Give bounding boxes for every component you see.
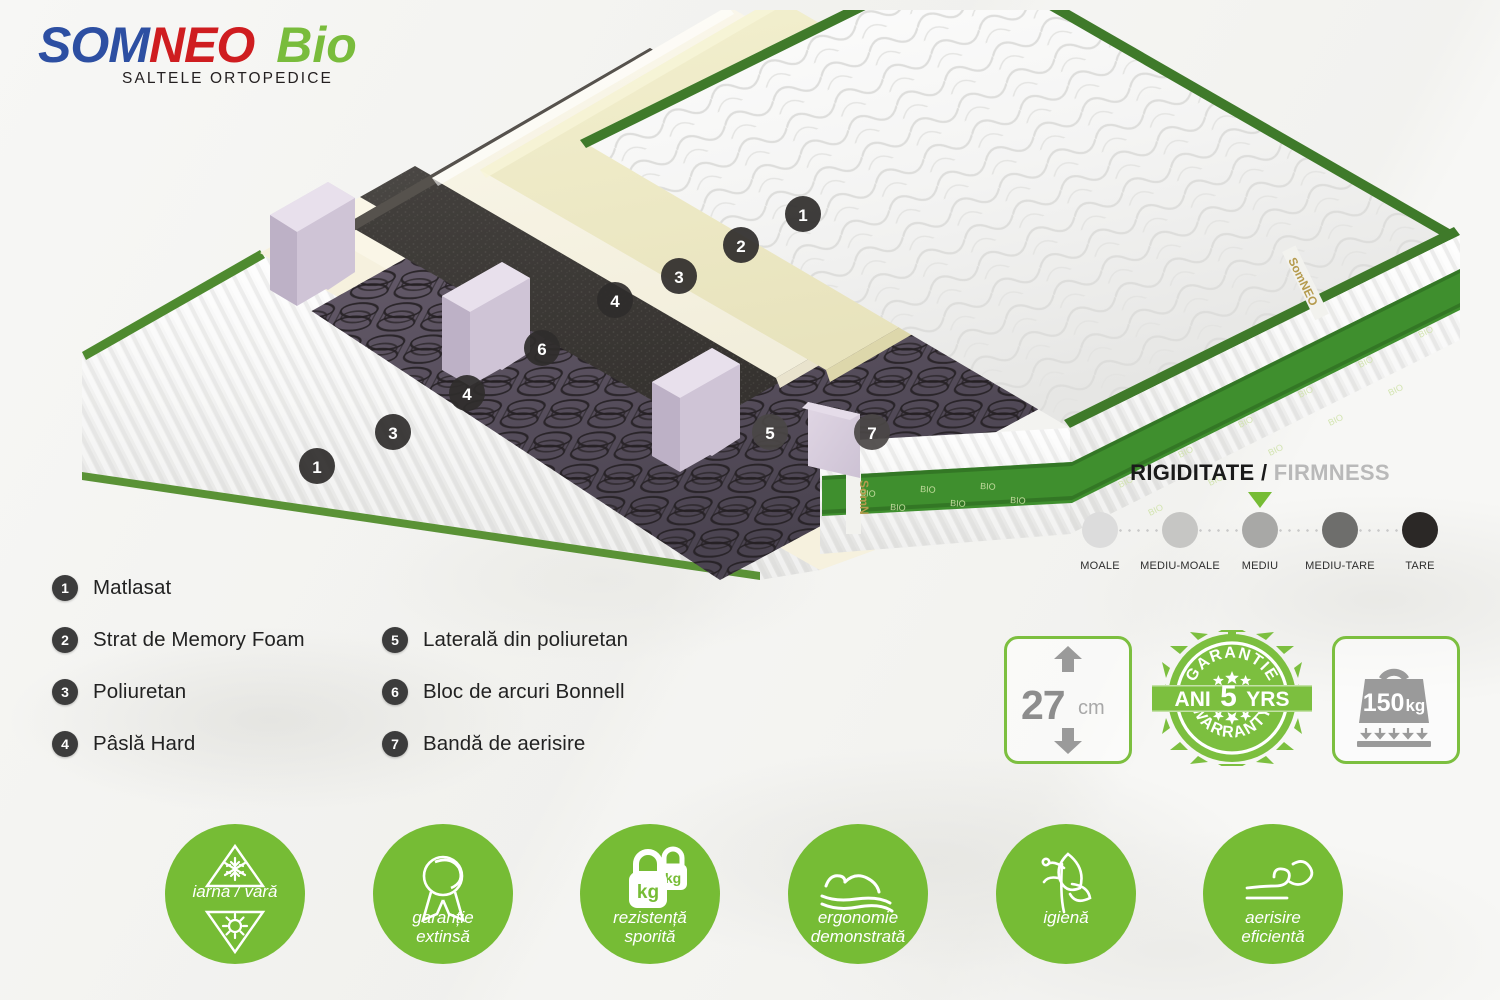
legend-badge: 1 — [52, 575, 78, 601]
legend-badge: 7 — [382, 731, 408, 757]
firmness-label: MEDIU-MOALE — [1140, 560, 1220, 572]
legend-badge: 4 — [52, 731, 78, 757]
feature-badge-resistance[interactable]: kg kg rezistență sporită — [580, 824, 720, 964]
weight-unit: kg — [1405, 696, 1425, 715]
callout-6: 6 — [524, 330, 560, 366]
firmness-dot — [1162, 512, 1198, 548]
logo-bio-text: Bio — [276, 16, 357, 74]
firmness-label: MEDIU-TARE — [1300, 560, 1380, 572]
svg-text:3: 3 — [674, 268, 683, 287]
legend-item: 6 Bloc de arcuri Bonnell — [382, 666, 628, 718]
weight-value: 150 — [1363, 689, 1405, 717]
warranty-years-number: 5 — [1220, 680, 1237, 713]
firmness-level-tare[interactable]: TARE — [1380, 512, 1460, 572]
callout-2: 2 — [723, 227, 759, 263]
legend-column-2: 5 Laterală din poliuretan 6 Bloc de arcu… — [382, 614, 628, 770]
svg-text:5: 5 — [765, 424, 774, 443]
feature-badge-hygiene[interactable]: igienă — [996, 824, 1136, 964]
svg-text:SomN: SomN — [857, 480, 871, 515]
callout-4-top: 4 — [597, 282, 633, 318]
legend-label: Pâslă Hard — [93, 732, 195, 756]
feature-label-2: extinsă — [373, 927, 513, 946]
warranty-ani-text: ANI — [1175, 688, 1211, 711]
legend-column-1: 1 Matlasat 2 Strat de Memory Foam 3 Poli… — [52, 562, 305, 770]
firmness-title-ro: RIGIDITATE — [1130, 460, 1254, 485]
feature-label: garanție — [373, 908, 513, 927]
legend-badge: 5 — [382, 627, 408, 653]
svg-text:kg: kg — [665, 870, 681, 886]
svg-text:1: 1 — [312, 458, 321, 477]
firmness-label: MOALE — [1060, 560, 1140, 572]
feature-label-2: eficientă — [1203, 927, 1343, 946]
legend-item: 3 Poliuretan — [52, 666, 305, 718]
firmness-dot — [1082, 512, 1118, 548]
legend-label: Poliuretan — [93, 680, 186, 704]
svg-text:1: 1 — [798, 206, 807, 225]
feature-label-2: demonstrată — [788, 927, 928, 946]
legend-item: 1 Matlasat — [52, 562, 305, 614]
leaf-icon — [996, 824, 1136, 964]
feature-label: igienă — [996, 908, 1136, 927]
spec-height-value: 27 — [1021, 682, 1065, 729]
spec-height-unit: cm — [1078, 697, 1105, 720]
firmness-scale: MOALE MEDIU-MOALE MEDIU MEDIU-TARE TARE — [1060, 512, 1460, 590]
spec-badges: 27 cm — [1004, 636, 1464, 762]
legend-badge: 3 — [52, 679, 78, 705]
firmness-title-en: FIRMNESS — [1274, 460, 1390, 485]
callout-5: 5 — [752, 414, 788, 450]
legend-label: Laterală din poliuretan — [423, 628, 628, 652]
svg-text:BIO: BIO — [980, 481, 996, 492]
warranty-yrs-text: YRS — [1246, 688, 1289, 711]
callout-7: 7 — [854, 414, 890, 450]
feature-badge-season[interactable]: iarnă / vară — [165, 824, 305, 964]
firmness-level-mediu[interactable]: MEDIU — [1220, 512, 1300, 572]
feature-label-2: sporită — [580, 927, 720, 946]
callout-3-top: 3 — [661, 258, 697, 294]
callout-1-bottom: 1 — [299, 448, 335, 484]
weight-capacity-icon: 150kg — [1335, 639, 1453, 757]
svg-text:6: 6 — [537, 340, 546, 359]
firmness-title-separator: / — [1261, 460, 1267, 485]
warranty-seal-icon: GARANTIE WARRANTY — [1144, 630, 1320, 766]
legend-label: Bandă de aerisire — [423, 732, 585, 756]
feature-label: ergonomie — [788, 908, 928, 927]
feature-label: rezistență — [580, 908, 720, 927]
legend-item: 7 Bandă de aerisire — [382, 718, 628, 770]
logo-som-text: SOM — [38, 20, 149, 70]
firmness-level-mediu-moale[interactable]: MEDIU-MOALE — [1140, 512, 1220, 572]
firmness-title: RIGIDITATE / FIRMNESS — [1060, 460, 1460, 486]
callout-4-bottom: 4 — [449, 375, 485, 411]
feature-label: iarnă / vară — [165, 882, 305, 901]
svg-text:7: 7 — [867, 424, 876, 443]
legend-item: 2 Strat de Memory Foam — [52, 614, 305, 666]
legend-item: 5 Laterală din poliuretan — [382, 614, 628, 666]
legend-label: Strat de Memory Foam — [93, 628, 305, 652]
logo-neo-text: NEO — [149, 20, 254, 70]
arrow-up-icon — [1051, 646, 1085, 672]
callout-1-top: 1 — [785, 196, 821, 232]
feature-badges-row: iarnă / vară garanție extinsă kg k — [0, 824, 1500, 994]
svg-text:kg: kg — [637, 882, 659, 903]
feature-label: aerisire — [1203, 908, 1343, 927]
firmness-section: RIGIDITATE / FIRMNESS MOALE MEDIU-MOALE … — [1060, 460, 1460, 590]
svg-text:4: 4 — [610, 292, 620, 311]
svg-text:BIO: BIO — [1266, 442, 1284, 458]
legend-label: Bloc de arcuri Bonnell — [423, 680, 625, 704]
firmness-dot — [1402, 512, 1438, 548]
legend-item: 4 Pâslă Hard — [52, 718, 305, 770]
legend-badge: 2 — [52, 627, 78, 653]
legend-badge: 6 — [382, 679, 408, 705]
brand-logo: SOM NEO Bio SALTELE ORTOPEDICE — [38, 16, 357, 88]
firmness-dot — [1322, 512, 1358, 548]
svg-text:BIO: BIO — [1386, 382, 1404, 398]
warranty-seal-badge: GARANTIE WARRANTY — [1144, 630, 1320, 766]
callout-3-bottom: 3 — [375, 414, 411, 450]
svg-text:BIO: BIO — [1326, 412, 1344, 428]
svg-text:BIO: BIO — [950, 498, 966, 509]
firmness-selected-arrow-icon — [1248, 492, 1272, 508]
arrow-down-icon — [1051, 728, 1085, 754]
legend-label: Matlasat — [93, 576, 171, 600]
firmness-label: TARE — [1380, 560, 1460, 572]
feature-badge-airflow[interactable]: aerisire eficientă — [1203, 824, 1343, 964]
svg-text:4: 4 — [462, 385, 472, 404]
logo-tagline: SALTELE ORTOPEDICE — [122, 70, 357, 88]
firmness-label: MEDIU — [1220, 560, 1300, 572]
svg-text:2: 2 — [736, 237, 745, 256]
svg-text:BIO: BIO — [890, 502, 906, 513]
svg-text:BIO: BIO — [1010, 495, 1026, 506]
firmness-level-moale[interactable]: MOALE — [1060, 512, 1140, 572]
feature-badge-warranty[interactable]: garanție extinsă — [373, 824, 513, 964]
firmness-level-mediu-tare[interactable]: MEDIU-TARE — [1300, 512, 1380, 572]
feature-badge-ergonomics[interactable]: ergonomie demonstrată — [788, 824, 928, 964]
svg-text:BIO: BIO — [920, 484, 936, 495]
spec-weight-badge: 150kg — [1332, 636, 1460, 764]
svg-text:3: 3 — [388, 424, 397, 443]
spec-height-badge: 27 cm — [1004, 636, 1132, 764]
firmness-dot — [1242, 512, 1278, 548]
